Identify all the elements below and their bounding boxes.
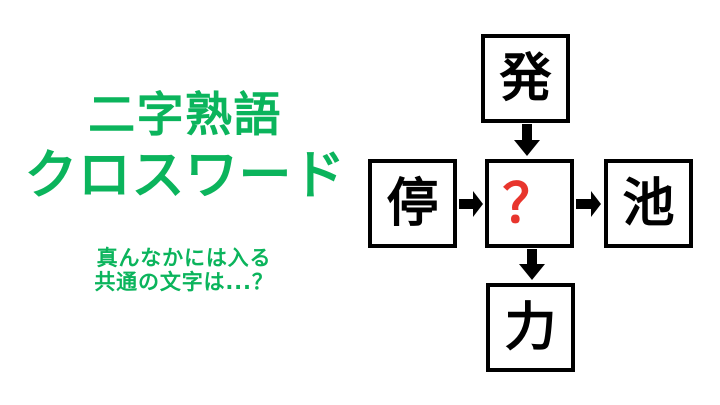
arrow-down-icon [513, 124, 541, 157]
puzzle-graphic: 二字熟語 クロスワード 真んなかには入る 共通の文字は...？ 発 停 ？ 池 … [0, 0, 720, 405]
puzzle-char-center-unknown: ？ [503, 177, 557, 231]
puzzle-char-right: 池 [622, 178, 674, 230]
arrow-down-icon [518, 249, 546, 281]
arrow-right-icon [459, 190, 484, 218]
puzzle-char-left: 停 [386, 178, 438, 230]
puzzle-cell-center: ？ [485, 159, 574, 248]
puzzle-char-bottom: 力 [504, 302, 556, 354]
crossword-diagram: 発 停 ？ 池 力 [0, 0, 720, 405]
puzzle-char-top: 発 [499, 53, 551, 105]
puzzle-cell-top: 発 [481, 34, 570, 123]
puzzle-cell-right: 池 [604, 159, 693, 248]
puzzle-cell-left: 停 [368, 159, 457, 248]
puzzle-cell-bottom: 力 [486, 283, 575, 372]
arrow-right-icon [576, 190, 602, 218]
